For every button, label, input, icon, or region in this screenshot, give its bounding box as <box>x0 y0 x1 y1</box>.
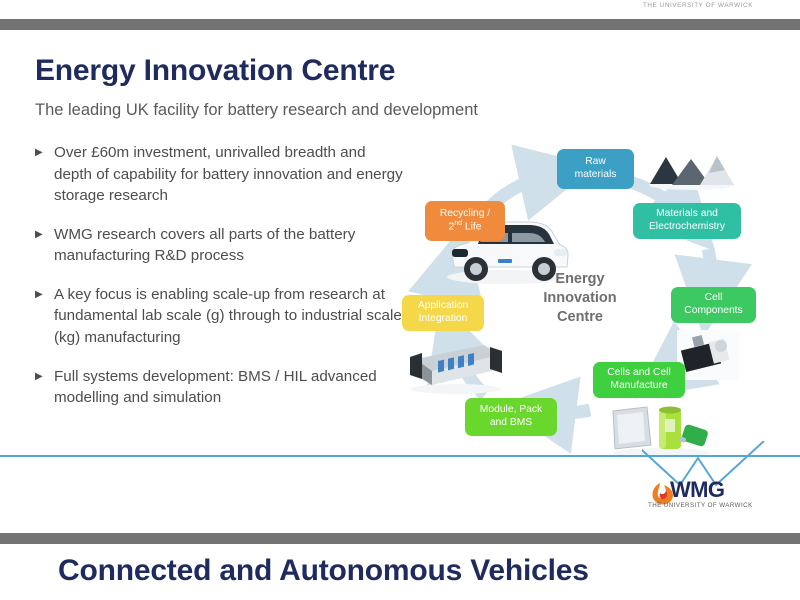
triangle-bullet-icon: ▶ <box>35 366 54 382</box>
recycling-label-sup: nd <box>454 220 462 227</box>
page-title: Energy Innovation Centre <box>35 54 395 88</box>
wmg-logo: WMG THE UNIVERSITY OF WARWICK <box>642 441 772 526</box>
powder-piles-photo <box>646 143 738 191</box>
slide-body: Energy Innovation Centre The leading UK … <box>0 30 800 445</box>
triangle-bullet-icon: ▶ <box>35 142 54 158</box>
triangle-bullet-icon: ▶ <box>35 284 54 300</box>
list-item-label: WMG research covers all parts of the bat… <box>54 224 405 267</box>
list-item-label: A key focus is enabling scale-up from re… <box>54 284 405 349</box>
diagram-node-application-integration[interactable]: Application Integration <box>402 295 484 331</box>
list-item: ▶ Over £60m investment, unrivalled bread… <box>35 142 405 207</box>
electrode-roll-photo <box>677 330 739 380</box>
battery-module-photo <box>406 337 506 395</box>
diagram-node-module-pack-and-bms[interactable]: Module, Pack and BMS <box>465 398 557 436</box>
wmg-wordmark: WMG <box>670 477 724 503</box>
list-item-label: Over £60m investment, unrivalled breadth… <box>54 142 405 207</box>
diagram-centre-label: Energy Innovation Centre <box>520 270 640 327</box>
diagram-node-cells-and-cell-manufacture[interactable]: Cells and Cell Manufacture <box>593 362 685 398</box>
next-section-heading: Connected and Autonomous Vehicles <box>58 554 589 588</box>
bottom-gray-bar <box>0 533 800 544</box>
slide-canvas: THE UNIVERSITY OF WARWICK Energy Innovat… <box>0 0 800 600</box>
page-subtitle: The leading UK facility for battery rese… <box>35 101 478 120</box>
diagram-node-recycling-2nd-life[interactable]: Recycling / 2nd Life <box>425 201 505 241</box>
recycling-label-post: Life <box>462 222 481 233</box>
list-item: ▶ WMG research covers all parts of the b… <box>35 224 405 267</box>
list-item-label: Full systems development: BMS / HIL adva… <box>54 366 405 409</box>
battery-lifecycle-diagram: Energy Innovation Centre Raw materials M… <box>390 125 800 465</box>
list-item: ▶ A key focus is enabling scale-up from … <box>35 284 405 349</box>
triangle-bullet-icon: ▶ <box>35 224 54 240</box>
bullet-list: ▶ Over £60m investment, unrivalled bread… <box>35 142 405 426</box>
top-gray-bar <box>0 19 800 30</box>
diagram-node-raw-materials[interactable]: Raw materials <box>557 149 634 189</box>
diagram-node-cell-components[interactable]: Cell Components <box>671 287 756 323</box>
wmg-university-text: THE UNIVERSITY OF WARWICK <box>648 502 753 509</box>
top-university-text: THE UNIVERSITY OF WARWICK <box>643 2 753 9</box>
list-item: ▶ Full systems development: BMS / HIL ad… <box>35 366 405 409</box>
diagram-node-materials-electrochemistry[interactable]: Materials and Electrochemistry <box>633 203 741 239</box>
